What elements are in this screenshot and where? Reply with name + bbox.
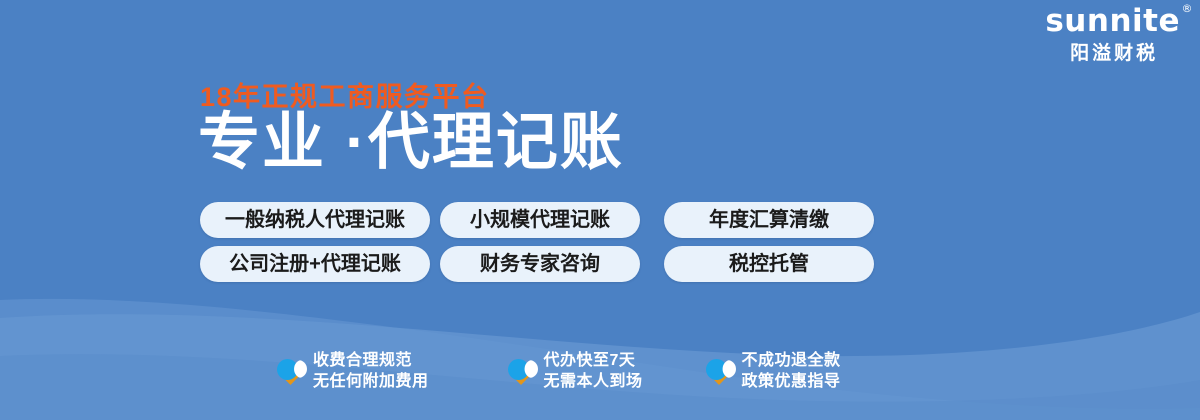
feature-line-2: 无任何附加费用 [313, 373, 429, 390]
feature-line-2: 政策优惠指导 [742, 373, 841, 390]
feature-line-1: 不成功退全款 [742, 352, 841, 369]
feature-item-speed: 代办快至7天 无需本人到场 [507, 350, 643, 392]
logo-wordmark-text: sunnite [1045, 3, 1180, 39]
feature-text: 不成功退全款 政策优惠指导 [742, 350, 841, 392]
feature-line-1: 代办快至7天 [544, 352, 636, 369]
feature-item-pricing: 收费合理规范 无任何附加费用 [276, 350, 429, 392]
service-pill-expert-consulting[interactable]: 财务专家咨询 [440, 246, 640, 282]
feature-text: 收费合理规范 无任何附加费用 [313, 350, 429, 392]
feature-text: 代办快至7天 无需本人到场 [544, 350, 643, 392]
brand-logo[interactable]: sunnite ® 阳溢财税 [1045, 6, 1180, 63]
feature-strip: 收费合理规范 无任何附加费用 代办快至7天 无需本人到场 不成功退全款 [276, 350, 841, 392]
half-moon-drop-icon [705, 356, 733, 386]
service-pill-row: 公司注册+代理记账 财务专家咨询 税控托管 [200, 246, 874, 282]
service-pill-small-scale[interactable]: 小规模代理记账 [440, 202, 640, 238]
logo-subtitle: 阳溢财税 [1045, 44, 1180, 63]
feature-line-1: 收费合理规范 [313, 352, 412, 369]
logo-wordmark: sunnite ® [1045, 6, 1180, 37]
service-pill-grid: 一般纳税人代理记账 小规模代理记账 年度汇算清缴 公司注册+代理记账 财务专家咨… [200, 202, 874, 290]
half-moon-drop-icon [507, 356, 535, 386]
service-pill-tax-control-hosting[interactable]: 税控托管 [664, 246, 874, 282]
feature-line-2: 无需本人到场 [544, 373, 643, 390]
service-pill-annual-settlement[interactable]: 年度汇算清缴 [664, 202, 874, 238]
feature-item-guarantee: 不成功退全款 政策优惠指导 [705, 350, 841, 392]
service-pill-row: 一般纳税人代理记账 小规模代理记账 年度汇算清缴 [200, 202, 874, 238]
registered-trademark-icon: ® [1182, 3, 1194, 14]
service-pill-general-taxpayer[interactable]: 一般纳税人代理记账 [200, 202, 430, 238]
hero-headline: 专业 ·代理记账 [198, 110, 624, 175]
promo-banner: sunnite ® 阳溢财税 18年正规工商服务平台 专业 ·代理记账 一般纳税… [0, 0, 1200, 420]
half-moon-drop-icon [276, 356, 304, 386]
service-pill-company-registration[interactable]: 公司注册+代理记账 [200, 246, 430, 282]
